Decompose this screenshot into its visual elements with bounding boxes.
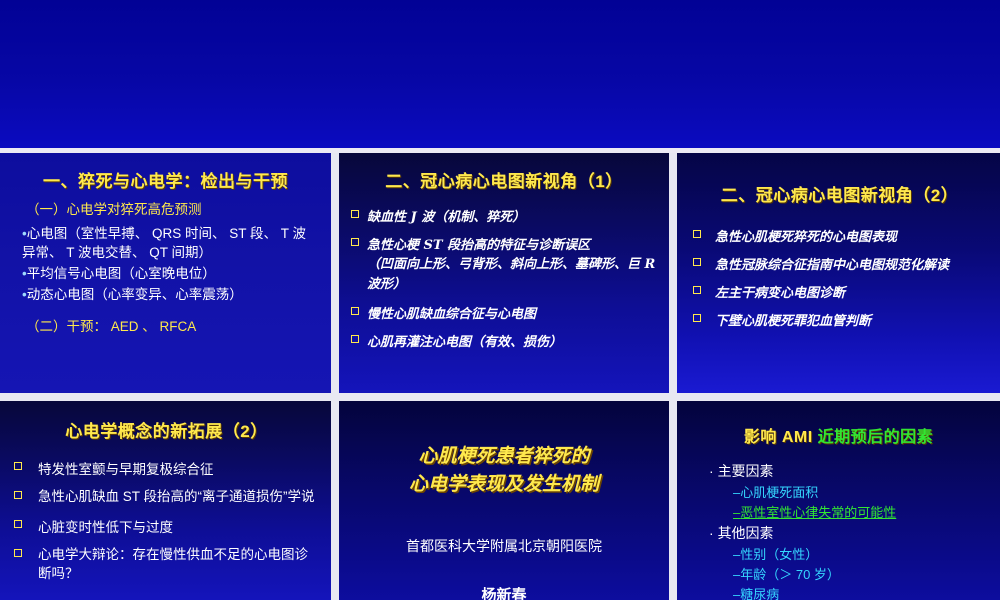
slide-grid-screen: 一、猝死与心电学：检出与干预 （一）心电学对猝死高危预测 •心电图（室性早搏、 … <box>0 0 1000 600</box>
slide-3-item-3: 左主干病变心电图诊断 <box>693 282 986 301</box>
slide-4-item-2: 急性心肌缺血 ST 段抬高的“离子通道损伤”学说 <box>14 487 319 507</box>
slide-1-subtitle: （一）心电学对猝死高危预测 <box>26 198 319 218</box>
slide-4-item-3: 心脏变时性低下与过度 <box>14 516 319 536</box>
square-bullet-icon <box>693 258 701 266</box>
square-bullet-icon <box>14 491 22 499</box>
square-bullet-icon <box>14 462 22 470</box>
slide-6-group-2-heading: · 其他因素 <box>709 523 990 543</box>
bullet-dot-icon: · <box>709 463 714 479</box>
slide-4-item-4: 心电学大辩论：存在慢性供血不足的心电图诊断吗？ <box>14 545 319 584</box>
slide-thumbnail-1[interactable]: 一、猝死与心电学：检出与干预 （一）心电学对猝死高危预测 •心电图（室性早搏、 … <box>0 153 331 393</box>
square-bullet-icon <box>351 210 359 218</box>
slide-thumbnail-2[interactable]: 二、冠心病心电图新视角（1） 缺血性 J 波（机制、猝死） 急性心梗 ST 段抬… <box>339 153 669 393</box>
square-bullet-icon <box>351 307 359 315</box>
slide-thumbnail-3[interactable]: 二、冠心病心电图新视角（2） 急性心肌梗死猝死的心电图表现 急性冠脉综合征指南中… <box>677 153 1000 393</box>
slide-thumbnail-4[interactable]: 心电学概念的新拓展（2） 特发性室颤与早期复极综合征 急性心肌缺血 ST 段抬高… <box>0 401 331 600</box>
slide-2-item-1: 缺血性 J 波（机制、猝死） <box>351 206 657 225</box>
slide-thumbnail-6[interactable]: 影响 AMI 近期预后的因素 · 主要因素 –心肌梗死面积 –恶性室性心律失常的… <box>677 401 1000 600</box>
slide-5-title-line-2: 心电学表现及发生机制 <box>357 471 651 499</box>
slide-5-title-line-1: 心肌梗死患者猝死的 <box>357 443 651 471</box>
top-partial-slide[interactable] <box>0 0 1000 148</box>
slide-2-item-2: 急性心梗 ST 段抬高的特征与诊断误区 <box>351 234 657 253</box>
slide-6-group-2-item-2: –年龄（＞ 70 岁） <box>733 564 990 583</box>
slide-3-item-1: 急性心肌梗死猝死的心电图表现 <box>693 226 986 245</box>
slide-6-title-part-2: 近期预后的因素 <box>818 429 934 446</box>
slide-6-title: 影响 AMI 近期预后的因素 <box>687 423 990 447</box>
square-bullet-icon <box>14 520 22 528</box>
square-bullet-icon <box>693 230 701 238</box>
slide-2-title: 二、冠心病心电图新视角（1） <box>351 167 657 192</box>
square-bullet-icon <box>693 314 701 322</box>
slide-1-bullet-3: •动态心电图（心率变异、心率震荡） <box>22 285 319 304</box>
square-bullet-icon <box>351 335 359 343</box>
slide-6-group-1-item-2: –恶性室性心律失常的可能性 <box>733 502 990 521</box>
slide-2-item-2-continuation: （凹面向上形、弓背形、斜向上形、墓碑形、巨 R 波形） <box>367 255 657 294</box>
slide-4-item-1: 特发性室颤与早期复极综合征 <box>14 458 319 478</box>
slide-6-group-1-heading: · 主要因素 <box>709 461 990 481</box>
slide-6-group-2-item-1: –性别（女性） <box>733 544 990 563</box>
bullet-dot-icon: · <box>709 525 714 541</box>
slide-6-group-2-item-3: –糖尿病 <box>733 584 990 600</box>
slide-1-footer: （二）干预： AED 、 RFCA <box>26 315 319 335</box>
slide-5-organization: 首都医科大学附属北京朝阳医院 <box>357 536 651 556</box>
slide-4-title: 心电学概念的新拓展（2） <box>14 417 319 442</box>
slide-6-group-1-item-1: –心肌梗死面积 <box>733 482 990 501</box>
slide-1-bullet-2: •平均信号心电图（心室晚电位） <box>22 264 319 283</box>
slide-3-title: 二、冠心病心电图新视角（2） <box>693 181 986 206</box>
slide-2-item-3: 慢性心肌缺血综合征与心电图 <box>351 303 657 322</box>
square-bullet-icon <box>693 286 701 294</box>
slide-1-title: 一、猝死与心电学：检出与干预 <box>12 167 319 192</box>
slide-thumbnail-grid: 一、猝死与心电学：检出与干预 （一）心电学对猝死高危预测 •心电图（室性早搏、 … <box>0 153 1000 600</box>
slide-5-presenter: 杨新春 <box>357 584 651 600</box>
slide-3-item-4: 下壁心肌梗死罪犯血管判断 <box>693 310 986 329</box>
slide-2-item-4: 心肌再灌注心电图（有效、损伤） <box>351 331 657 350</box>
slide-3-item-2: 急性冠脉综合征指南中心电图规范化解读 <box>693 254 986 273</box>
slide-thumbnail-5[interactable]: 心肌梗死患者猝死的 心电学表现及发生机制 首都医科大学附属北京朝阳医院 杨新春 <box>339 401 669 600</box>
square-bullet-icon <box>351 238 359 246</box>
square-bullet-icon <box>14 549 22 557</box>
slide-6-title-part-1: 影响 AMI <box>744 429 818 446</box>
slide-1-bullet-1: •心电图（室性早搏、 QRS 时间、 ST 段、 T 波异常、 T 波电交替、 … <box>22 224 319 262</box>
